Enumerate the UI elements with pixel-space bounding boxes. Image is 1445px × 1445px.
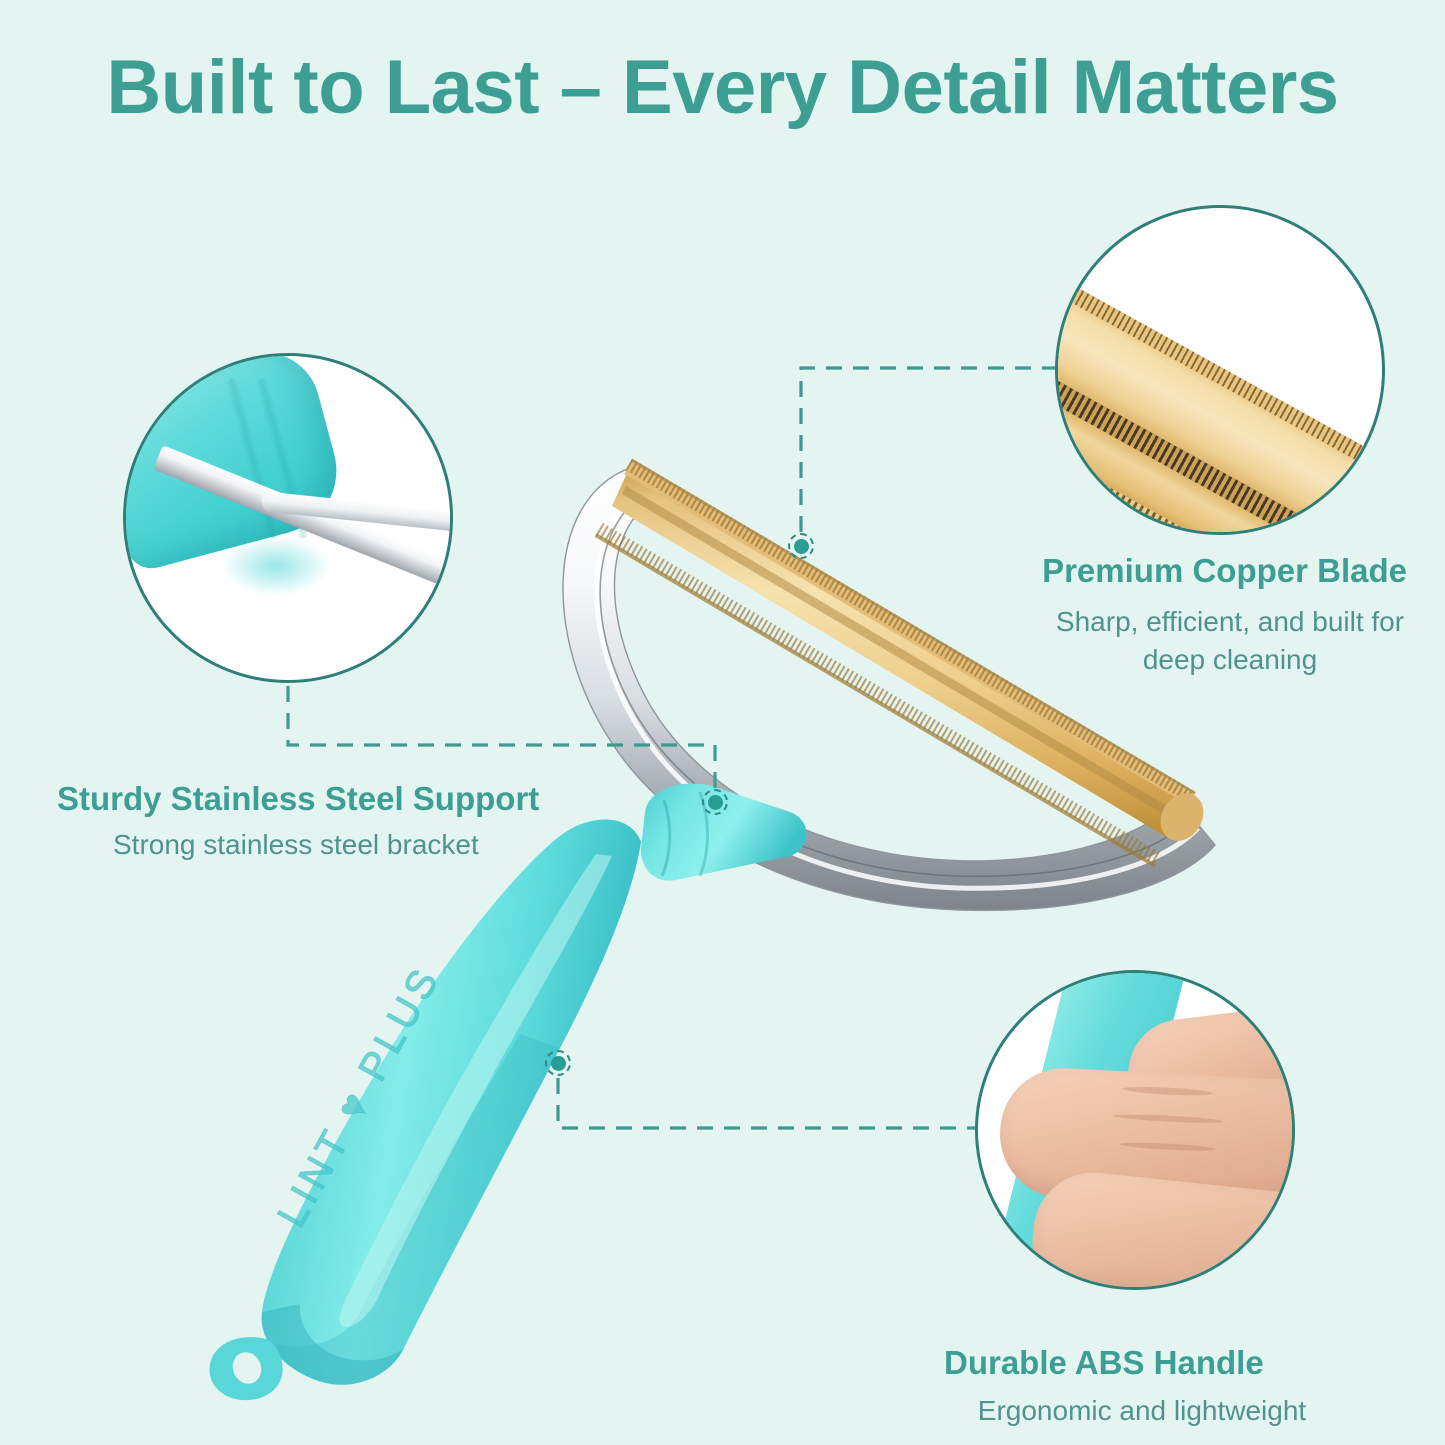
zoom-knuckle-crease-3 xyxy=(1119,1141,1215,1152)
marker-abs-handle[interactable] xyxy=(545,1050,571,1076)
zoom-handle-shadow xyxy=(221,536,331,596)
zoom-knuckle-crease-1 xyxy=(1122,1085,1212,1097)
zoom-knuckle-crease-2 xyxy=(1113,1113,1223,1125)
zoom-circle-stainless-steel xyxy=(123,353,453,683)
marker-copper-blade[interactable] xyxy=(788,533,814,559)
marker-stainless-steel[interactable] xyxy=(702,789,728,815)
callout-description-stainless-steel: Strong stainless steel bracket xyxy=(113,826,533,864)
callout-description-abs-handle: Ergonomic and lightweight xyxy=(932,1392,1352,1430)
callout-title-copper-blade: Premium Copper Blade xyxy=(1042,551,1407,591)
callout-title-abs-handle: Durable ABS Handle xyxy=(944,1343,1264,1383)
handle-body: LINT ♥ PLUS xyxy=(209,819,641,1400)
callout-description-copper-blade: Sharp, efficient, and built for deep cle… xyxy=(1030,603,1430,678)
infographic-canvas: Built to Last – Every Detail Matters xyxy=(0,0,1445,1445)
zoom-circle-copper-blade xyxy=(1055,205,1385,535)
hanging-loop xyxy=(209,1337,282,1400)
callout-title-stainless-steel: Sturdy Stainless Steel Support xyxy=(57,779,539,819)
zoom-circle-abs-handle xyxy=(975,970,1295,1290)
